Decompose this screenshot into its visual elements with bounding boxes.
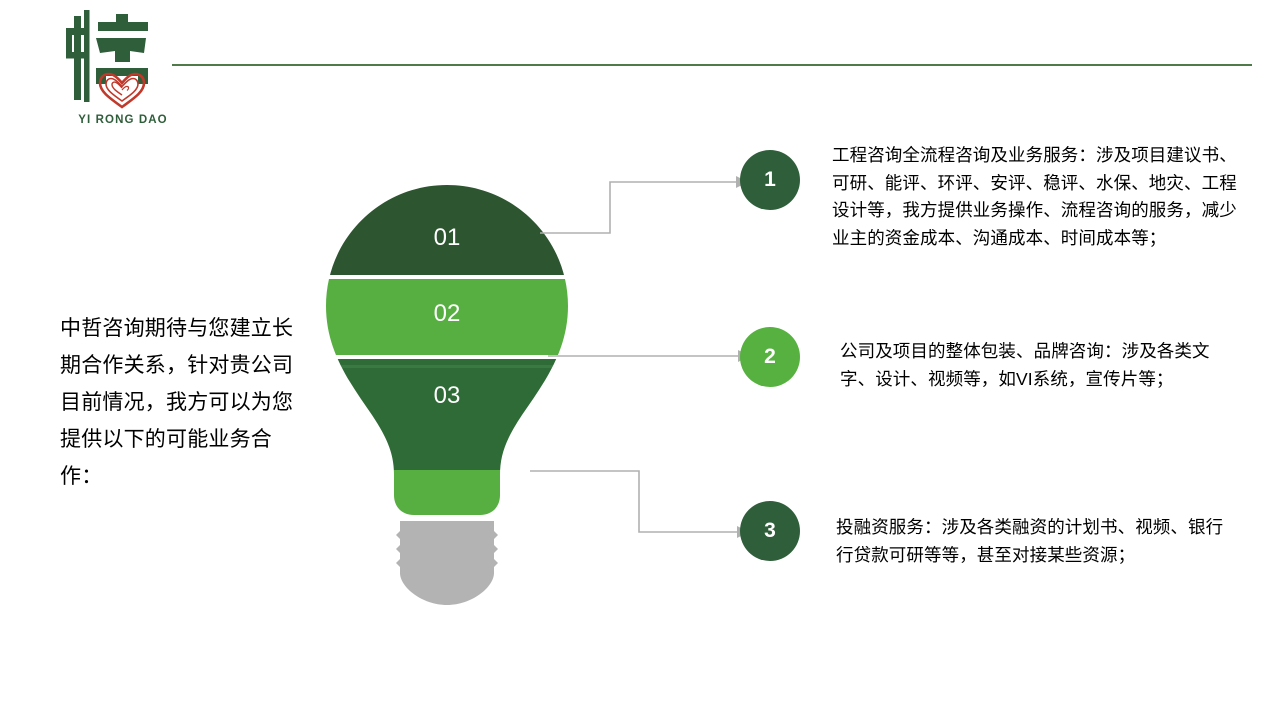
bulb-base <box>396 521 498 605</box>
intro-paragraph: 中哲咨询期待与您建立长期合作关系，针对贵公司目前情况，我方可以为您提供以下的可能… <box>60 310 304 495</box>
brand-logo: YI RONG DAO <box>48 6 198 136</box>
item-bullet-2-label: 2 <box>764 345 776 369</box>
heart-icon <box>100 74 144 107</box>
slide-canvas: YI RONG DAO 中哲咨询期待与您建立长期合作关系，针对贵公司目前情况，我… <box>0 0 1280 720</box>
item-bullet-3-label: 3 <box>764 519 776 543</box>
item-bullet-1-label: 1 <box>764 168 776 192</box>
logo-latin-text: YI RONG DAO <box>48 114 198 126</box>
connector-line-3 <box>515 455 763 555</box>
item-bullet-2[interactable]: 2 <box>740 327 800 387</box>
connector-line-1 <box>540 165 760 255</box>
item-description-2: 公司及项目的整体包装、品牌咨询：涉及各类文字、设计、视频等，如VI系统，宣传片等… <box>840 338 1240 393</box>
header-divider <box>172 64 1252 66</box>
item-bullet-3[interactable]: 3 <box>740 501 800 561</box>
bulb-label-03: 03 <box>434 382 461 409</box>
logo-mark-icon <box>58 6 178 111</box>
item-bullet-1[interactable]: 1 <box>740 150 800 210</box>
item-description-1: 工程咨询全流程咨询及业务服务：涉及项目建议书、可研、能评、环评、安评、稳评、水保… <box>832 142 1237 252</box>
connector-line-2 <box>548 336 763 378</box>
item-description-3: 投融资服务：涉及各类融资的计划书、视频、银行行贷款可研等等，甚至对接某些资源； <box>836 514 1231 569</box>
bulb-label-02: 02 <box>434 300 461 327</box>
bulb-label-01: 01 <box>434 224 461 251</box>
